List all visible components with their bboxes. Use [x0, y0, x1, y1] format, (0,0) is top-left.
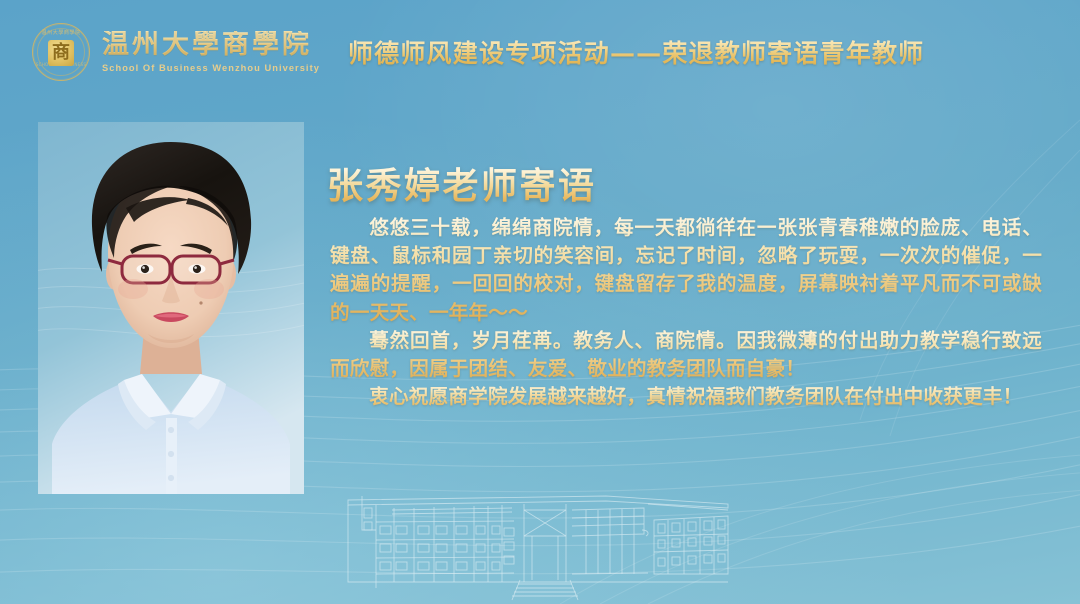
- seal-center-glyph: 商: [48, 40, 74, 66]
- slide-canvas: 温州大學商學院 SCHOOL OF BUSINESS 商 温州大學商學院 Sch…: [0, 0, 1080, 604]
- message-body: 悠悠三十载，绵绵商院情，每一天都徜徉在一张张青春稚嫩的脸庞、电话、键盘、鼠标和园…: [330, 214, 1042, 411]
- event-title: 师德师风建设专项活动——荣退教师寄语青年教师: [348, 34, 924, 70]
- portrait-illustration: [38, 122, 304, 494]
- campus-building-illustration: [336, 474, 740, 604]
- university-logo: 温州大學商學院 SCHOOL OF BUSINESS 商 温州大學商學院 Sch…: [32, 23, 320, 81]
- message-paragraph: 蓦然回首，岁月荏苒。教务人、商院情。因我微薄的付出助力教学稳行致远而欣慰，因属于…: [330, 327, 1042, 383]
- teacher-portrait-photo: [38, 122, 304, 494]
- message-paragraph: 衷心祝愿商学院发展越来越好，真情祝福我们教务团队在付出中收获更丰！: [330, 383, 1042, 411]
- slide-header: 温州大學商學院 SCHOOL OF BUSINESS 商 温州大學商學院 Sch…: [0, 0, 1080, 104]
- school-seal-icon: 温州大學商學院 SCHOOL OF BUSINESS 商: [32, 23, 90, 81]
- page-title: 张秀婷老师寄语: [327, 157, 597, 209]
- logo-wordmark: 温州大學商學院 School Of Business Wenzhou Unive…: [102, 31, 320, 73]
- logo-name-cn: 温州大學商學院: [102, 31, 320, 60]
- seal-character: 商: [52, 44, 70, 62]
- message-paragraph: 悠悠三十载，绵绵商院情，每一天都徜徉在一张张青春稚嫩的脸庞、电话、键盘、鼠标和园…: [330, 214, 1042, 327]
- logo-name-en: School Of Business Wenzhou University: [102, 63, 320, 73]
